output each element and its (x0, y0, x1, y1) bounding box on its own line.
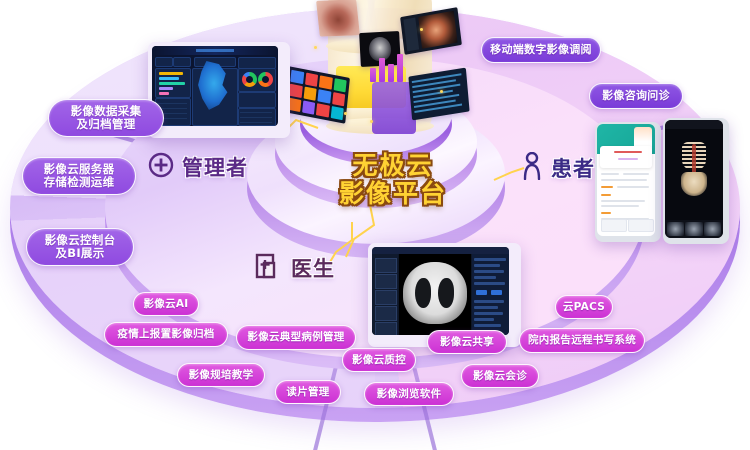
page-title: 无极云 影像平台 (318, 152, 468, 208)
endoscopy-image-thumb (316, 0, 360, 37)
circle-plus-icon (148, 152, 174, 182)
pill-admin-2[interactable]: 影像云控制台 及BI展示 (26, 228, 134, 266)
pill-patient-0[interactable]: 移动端数字影像调阅 (481, 37, 601, 63)
person-icon (521, 152, 543, 184)
role-admin-label: 管理者 (182, 152, 248, 182)
medical-record-icon (255, 252, 283, 284)
pill-doctor-1[interactable]: 疫情上报置影像归档 (104, 322, 228, 347)
pill-patient-1[interactable]: 影像咨询问诊 (589, 83, 683, 109)
pill-doctor-4[interactable]: 读片管理 (275, 380, 341, 404)
role-doctor-label: 医生 (291, 253, 335, 283)
pill-doctor-8[interactable]: 影像云会诊 (461, 364, 539, 388)
pill-doctor-10[interactable]: 院内报告远程书写系统 (519, 328, 645, 353)
title-line-2: 影像平台 (318, 180, 468, 208)
data-table-thumb (408, 68, 469, 121)
role-patient-label: 患者 (551, 153, 595, 183)
pill-admin-0[interactable]: 影像数据采集 及归档管理 (48, 99, 164, 137)
pill-doctor-2[interactable]: 影像云典型病例管理 (236, 325, 356, 350)
pill-doctor-3[interactable]: 影像规培教学 (177, 363, 265, 387)
role-admin[interactable]: 管理者 (148, 152, 248, 182)
central-data-tower (300, 0, 460, 144)
bar-chart-thumb (366, 50, 410, 86)
pill-doctor-0[interactable]: 影像云AI (133, 292, 199, 316)
mobile-3d-imaging-phone (663, 118, 729, 244)
pill-admin-1[interactable]: 影像云服务器 存储检测运维 (22, 157, 136, 195)
pill-doctor-7[interactable]: 影像云共享 (427, 330, 507, 354)
pill-doctor-5[interactable]: 影像云质控 (342, 348, 416, 372)
pill-doctor-9[interactable]: 云PACS (555, 295, 613, 319)
title-line-1: 无极云 (318, 152, 468, 180)
pill-doctor-6[interactable]: 影像浏览软件 (364, 382, 454, 406)
role-doctor[interactable]: 医生 (255, 252, 335, 284)
patient-report-phone (595, 122, 661, 242)
bi-dashboard-screen (148, 42, 290, 138)
role-patient[interactable]: 患者 (521, 152, 595, 184)
cloud-imaging-platform-graphic: 无极云 影像平台 管理者 患者 (0, 0, 750, 450)
